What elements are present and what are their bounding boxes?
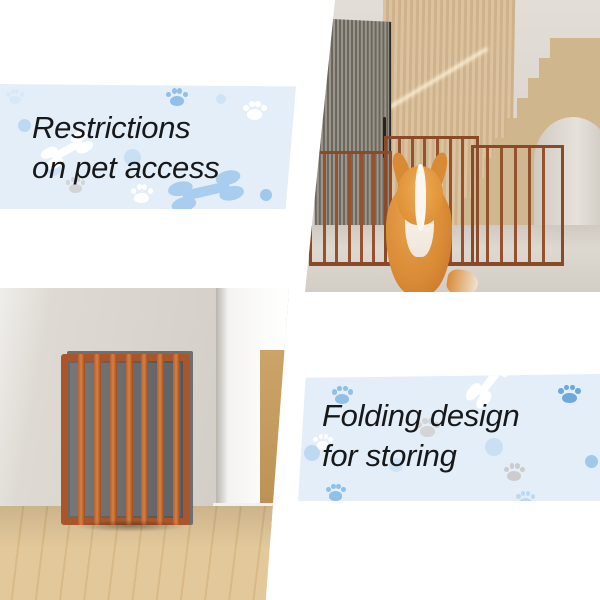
gate-slat — [110, 354, 117, 525]
dot-decor — [216, 94, 226, 104]
banner-restrictions-text: Restrictions on pet access — [32, 108, 219, 189]
photo-folded-gate — [0, 288, 292, 600]
folded-pet-gate — [61, 347, 192, 525]
banner-restrictions: Restrictions on pet access — [0, 84, 296, 209]
banner-folding: Folding design for storing — [298, 374, 600, 501]
corgi-dog — [375, 149, 465, 292]
gate-slat — [141, 354, 148, 525]
gate-slat — [78, 354, 85, 525]
dot-decor — [260, 189, 272, 201]
paw-print-icon — [243, 100, 267, 122]
gate-ground-shadow — [74, 520, 187, 532]
paw-print-icon — [6, 89, 24, 105]
gate-slat — [94, 354, 101, 525]
dot-decor — [18, 119, 31, 132]
paw-print-icon — [515, 491, 535, 509]
dot-decor — [585, 455, 598, 468]
dot-decor — [304, 445, 320, 461]
white-wall-right — [216, 288, 292, 531]
paw-print-icon — [558, 384, 581, 405]
paw-print-icon — [325, 483, 346, 502]
paw-print-icon — [166, 88, 188, 108]
banner-folding-text: Folding design for storing — [322, 396, 519, 477]
gate-slat — [173, 354, 180, 525]
photo-stairs-with-dog — [300, 0, 600, 292]
collage-canvas: Restrictions on pet access — [0, 0, 600, 600]
dog-head-blaze — [415, 164, 427, 231]
gate-slat — [126, 354, 133, 525]
gate-slat — [157, 354, 164, 525]
